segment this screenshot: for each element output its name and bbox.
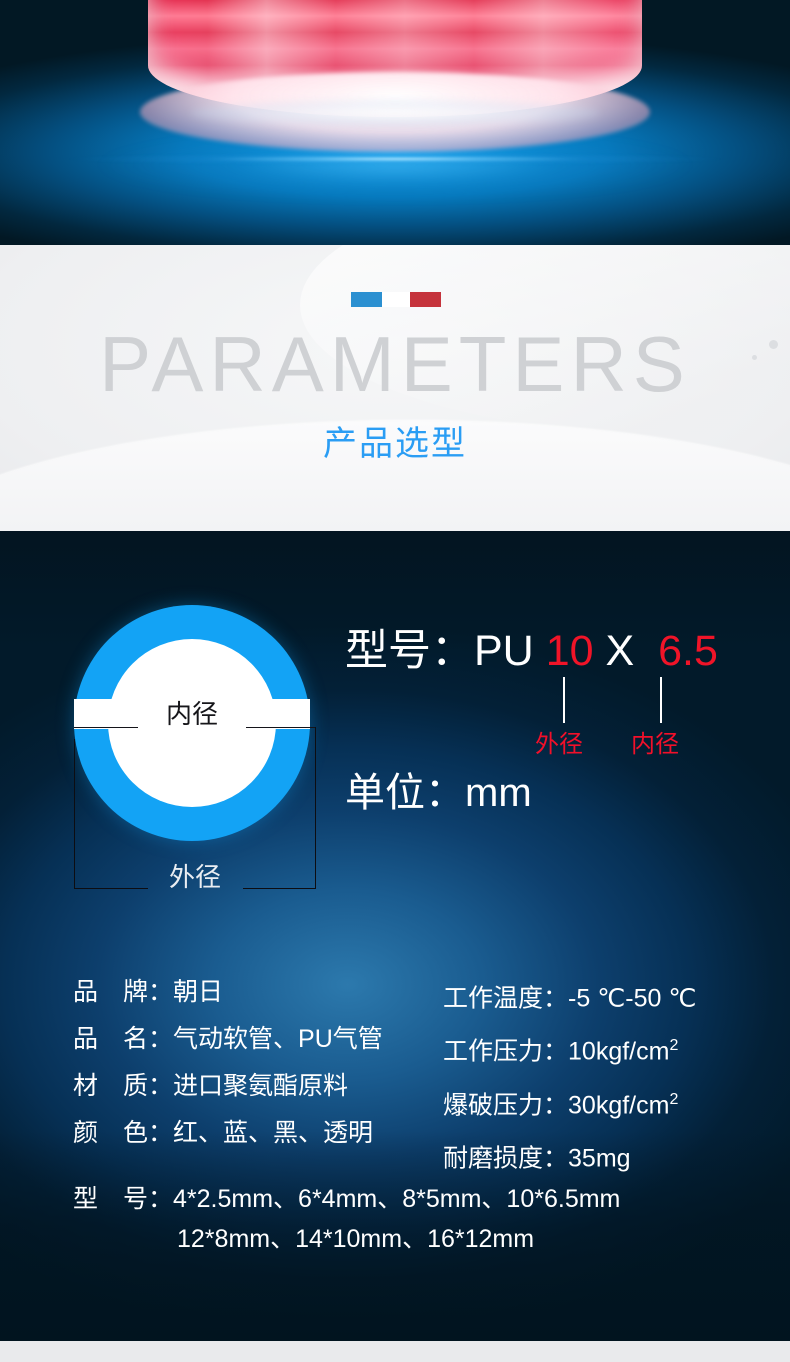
outer-diameter-label: 外径 (74, 862, 316, 892)
spec-key: 材 质： (73, 1072, 173, 1100)
hero-glow-line (0, 152, 790, 166)
spec-row: 材 质：进口聚氨酯原料 (73, 1063, 433, 1110)
spec-row: 品 牌：朝日 (73, 969, 433, 1016)
spec-key: 工作压力： (443, 1038, 568, 1066)
model-prefix: PU (474, 627, 534, 675)
coil-bottom-highlight (190, 100, 600, 126)
flag-segment-white (382, 292, 410, 307)
model-inner-value: 6.5 (658, 627, 718, 675)
spec-key: 颜 色： (73, 1119, 173, 1147)
sizes-row-1: 型 号：4*2.5mm、6*4mm、8*5mm、10*6.5mm (73, 1179, 773, 1219)
spec-row: 爆破压力：30kgf/cm2 (443, 1076, 783, 1129)
spec-row: 工作压力：10kgf/cm2 (443, 1022, 783, 1075)
callout-line-outer (563, 677, 565, 723)
banner-subtitle-cn: 产品选型 (0, 424, 790, 464)
available-sizes-block: 型 号：4*2.5mm、6*4mm、8*5mm、10*6.5mm 12*8mm、… (73, 1179, 773, 1259)
product-detail-page: PARAMETERS 产品选型 内径 外径 型号：PU 10 X 6.5 外径 … (0, 0, 790, 1362)
spec-value: 30kgf/cm (568, 1091, 669, 1119)
unit-label: 单位： (345, 771, 465, 815)
spec-value: 35mg (568, 1144, 631, 1172)
flag-segment-red (410, 292, 441, 307)
banner-title-en: PARAMETERS (0, 325, 790, 403)
spec-value: 红、蓝、黑、透明 (173, 1119, 373, 1147)
tricolor-flag-divider (351, 292, 441, 307)
spec-superscript: 2 (669, 1037, 678, 1054)
spec-value: 10kgf/cm (568, 1038, 669, 1066)
footer-strip (0, 1341, 790, 1362)
hose-cross-section-diagram: 内径 (74, 605, 310, 841)
spec-key: 品 名： (73, 1025, 173, 1053)
spec-column-left: 品 牌：朝日 品 名：气动软管、PU气管 材 质：进口聚氨酯原料 颜 色：红、蓝… (73, 969, 433, 1157)
inner-diameter-label: 内径 (74, 699, 310, 729)
spec-row: 颜 色：红、蓝、黑、透明 (73, 1110, 433, 1157)
spec-row: 品 名：气动软管、PU气管 (73, 1016, 433, 1063)
model-number-row: 型号：PU 10 X 6.5 (345, 626, 718, 676)
spec-key: 品 牌： (73, 978, 173, 1006)
spec-row: 耐磨损度：35mg (443, 1129, 783, 1182)
spec-value: 朝日 (173, 978, 223, 1006)
sizes-key: 型 号： (73, 1185, 173, 1213)
hero-product-photo (0, 0, 790, 245)
spec-superscript: 2 (669, 1091, 678, 1108)
spec-column-right: 工作温度：-5 ℃-50 ℃ 工作压力：10kgf/cm2 爆破压力：30kgf… (443, 969, 783, 1182)
unit-row: 单位：mm (345, 769, 532, 817)
spec-key: 工作温度： (443, 984, 568, 1012)
model-outer-value: 10 (546, 627, 594, 675)
callout-label-inner: 内径 (631, 731, 679, 759)
inner-diameter-leader-left (74, 727, 138, 728)
model-label: 型号： (345, 627, 474, 675)
spec-value: 气动软管、PU气管 (173, 1025, 383, 1053)
specification-panel: 内径 外径 型号：PU 10 X 6.5 外径 内径 单位：mm 品 牌：朝日 … (0, 531, 790, 1341)
model-separator: X (605, 627, 634, 675)
inner-diameter-leader-right (246, 727, 315, 728)
unit-value: mm (465, 771, 532, 815)
spec-value: 进口聚氨酯原料 (173, 1072, 348, 1100)
sizes-row-2: 12*8mm、14*10mm、16*12mm (73, 1219, 773, 1259)
sizes-value-line-1: 4*2.5mm、6*4mm、8*5mm、10*6.5mm (173, 1185, 620, 1213)
callout-line-inner (660, 677, 662, 723)
spec-row: 工作温度：-5 ℃-50 ℃ (443, 969, 783, 1022)
spec-key: 爆破压力： (443, 1091, 568, 1119)
callout-label-outer: 外径 (535, 731, 583, 759)
flag-segment-blue (351, 292, 382, 307)
spec-value: -5 ℃-50 ℃ (568, 984, 696, 1012)
spec-key: 耐磨损度： (443, 1144, 568, 1172)
